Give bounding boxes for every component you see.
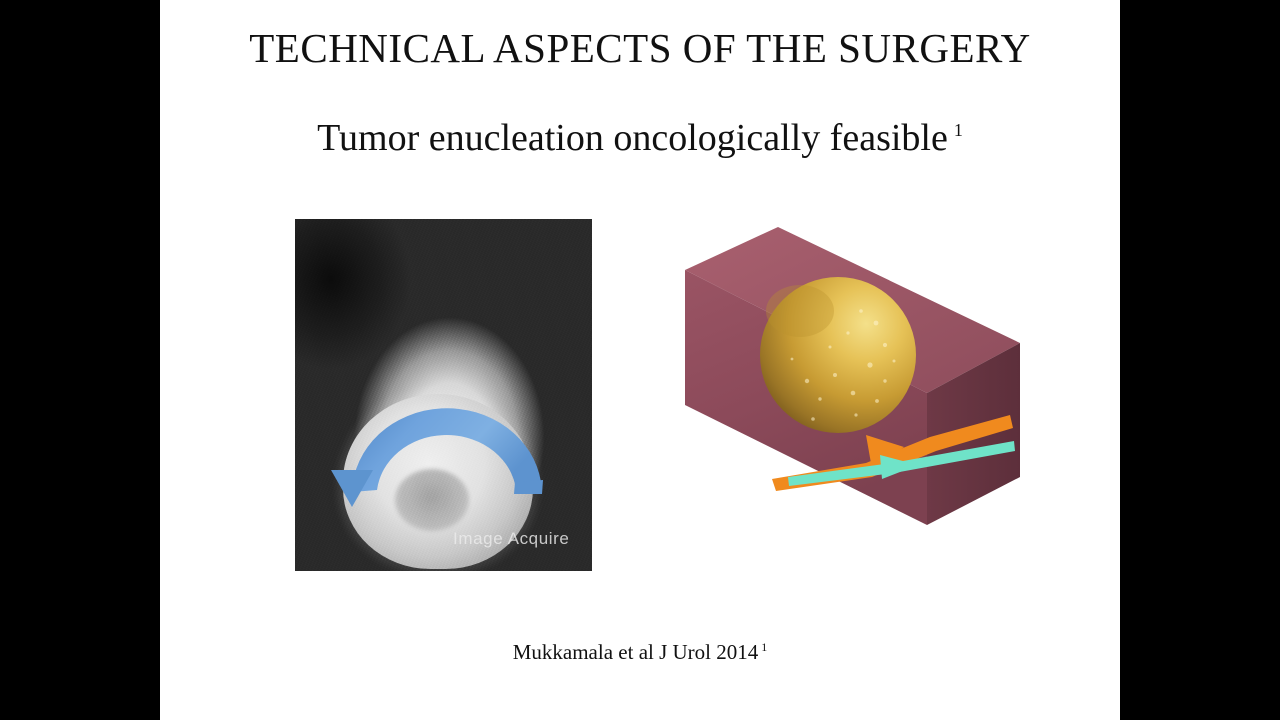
slide-subtitle: Tumor enucleation oncologically feasible… <box>160 116 1120 160</box>
slide-footnote: Mukkamala et al J Urol 20141 <box>160 640 1120 665</box>
blue-curved-arrow <box>317 374 571 509</box>
video-letterbox-frame: TECHNICAL ASPECTS OF THE SURGERY Tumor e… <box>0 0 1280 720</box>
3d-tumor-enucleation-diagram <box>680 215 1070 585</box>
ct-scan-watermark: Image Acquire <box>453 529 569 549</box>
presentation-slide: TECHNICAL ASPECTS OF THE SURGERY Tumor e… <box>160 0 1120 720</box>
slide-footnote-text: Mukkamala et al J Urol 2014 <box>513 640 759 664</box>
slide-title: TECHNICAL ASPECTS OF THE SURGERY <box>160 24 1120 72</box>
blue-arrow-tail <box>514 480 543 494</box>
slide-subtitle-text: Tumor enucleation oncologically feasible <box>317 117 948 159</box>
tumor-sphere <box>760 277 916 433</box>
blue-arrow-band <box>352 408 541 492</box>
slide-footnote-superscript: 1 <box>761 640 767 654</box>
slide-subtitle-superscript: 1 <box>954 120 963 140</box>
